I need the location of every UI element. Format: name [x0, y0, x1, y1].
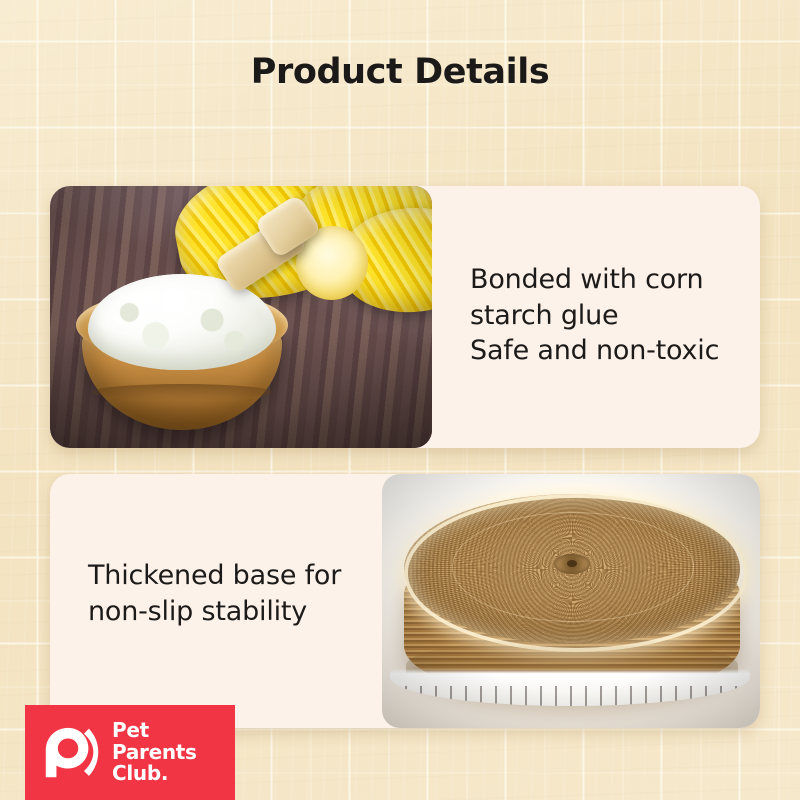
feature-card-corn-starch: Bonded with corn starch glue Safe and no…: [50, 186, 760, 448]
scratcher-base-photo: [382, 474, 760, 728]
feature-text-corn-starch: Bonded with corn starch glue Safe and no…: [470, 262, 750, 369]
bowl-base-ring: [92, 384, 272, 400]
corn-starch-powder: [88, 274, 276, 370]
brand-logo-text: Pet Parents Club.: [112, 720, 197, 784]
pet-parents-club-logo-mark: [39, 722, 101, 784]
corn-starch-photo: [50, 186, 432, 448]
feature-text-thickened-base: Thickened base for non-slip stability: [88, 558, 378, 629]
measuring-tape: [390, 646, 750, 706]
product-details-page: Product Details Bonded with corn starch …: [0, 0, 800, 800]
wooden-bowl: [76, 268, 288, 432]
feature-card-thickened-base: Thickened base for non-slip stability: [50, 474, 760, 728]
cardboard-scratcher-disc: [396, 488, 748, 714]
disc-center-hub: [554, 554, 590, 574]
page-title: Product Details: [0, 52, 800, 92]
brand-logo-block: Pet Parents Club.: [25, 705, 235, 800]
